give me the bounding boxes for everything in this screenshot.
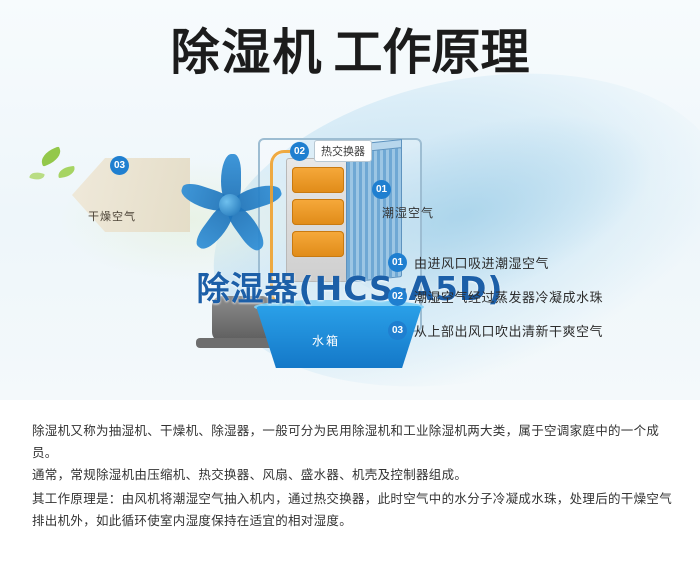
step-badge: 03 [388, 321, 407, 340]
paragraph-one: 除湿机又称为抽湿机、干燥机、除湿器，一般可分为民用除湿机和工业除湿机两大类，属于… [32, 420, 672, 486]
heat-exchanger-tag: 热交换器 [314, 140, 372, 162]
fan-icon [175, 148, 285, 258]
callout-badge-03: 03 [110, 156, 129, 175]
callout-badge-01: 01 [372, 180, 391, 199]
step-text: 从上部出风口吹出清新干爽空气 [414, 321, 603, 340]
paragraph-two-line-2: 排出机外，如此循环使室内湿度保持在适宜的相对湿度。 [32, 510, 672, 532]
step-item: 02 潮湿空气经过蒸发器冷凝成水珠 [388, 284, 688, 310]
page-title: 除湿机工作原理 [0, 26, 700, 80]
step-text: 由进风口吸进潮湿空气 [414, 253, 549, 272]
step-badge: 02 [388, 287, 407, 306]
water-tank-label: 水箱 [312, 332, 340, 349]
paragraph-one-line-1: 除湿机又称为抽湿机、干燥机、除湿器，一般可分为民用除湿机和工业除湿机两大类，属于… [32, 420, 672, 464]
paragraph-one-line-2: 通常，常规除湿机由压缩机、热交换器、风扇、盛水器、机壳及控制器组成。 [32, 464, 672, 486]
dry-air-label: 干燥空气 [88, 208, 136, 224]
hero-banner: 除湿机工作原理 干燥空气 [0, 0, 700, 400]
paragraph-two-line-1: 其工作原理是：由风机将潮湿空气抽入机内，通过热交换器，此时空气中的水分子冷凝成水… [32, 488, 672, 510]
title-part-two: 工作原理 [334, 24, 530, 81]
step-item: 03 从上部出风口吹出清新干爽空气 [388, 318, 688, 344]
step-badge: 01 [388, 253, 407, 272]
humid-air-label: 潮湿空气 [382, 204, 434, 221]
leaf-icon [38, 146, 63, 166]
step-text: 潮湿空气经过蒸发器冷凝成水珠 [414, 287, 603, 306]
title-part-one: 除湿机 [170, 24, 323, 81]
paragraph-two: 其工作原理是：由风机将潮湿空气抽入机内，通过热交换器，此时空气中的水分子冷凝成水… [32, 488, 672, 532]
callout-badge-02: 02 [290, 142, 309, 161]
leaf-icon [29, 170, 45, 182]
description-section: 除湿机又称为抽湿机、干燥机、除湿器，一般可分为民用除湿机和工业除湿机两大类，属于… [0, 400, 700, 566]
step-list: 01 由进风口吸进潮湿空气 02 潮湿空气经过蒸发器冷凝成水珠 03 从上部出风… [388, 250, 688, 352]
step-item: 01 由进风口吸进潮湿空气 [388, 250, 688, 276]
page-root: 除湿机工作原理 干燥空气 [0, 0, 700, 566]
leaf-icon [57, 166, 75, 178]
